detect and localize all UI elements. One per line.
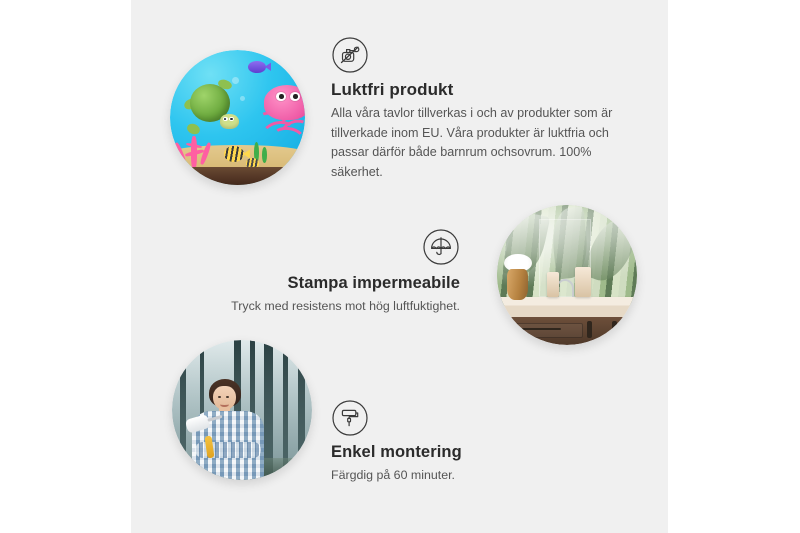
feature-title: Stampa impermeabile — [190, 274, 460, 293]
no-fragrance-icon — [331, 36, 369, 74]
feature-description: Färgdig på 60 minuter. — [331, 466, 591, 485]
promo-banner: Luktfri produkt Alla våra tavlor tillver… — [0, 0, 800, 533]
towel-stack — [547, 272, 558, 297]
feature-block-waterproof: Stampa impermeabile Tryck med resistens … — [190, 228, 460, 316]
umbrella-icon — [422, 228, 460, 266]
vase-icon — [507, 269, 528, 300]
feature-title: Enkel montering — [331, 443, 591, 462]
towel-stack — [575, 267, 590, 298]
feature-image-botanical-bathroom-mural — [497, 205, 637, 345]
feature-description: Tryck med resistens mot hög luftfuktighe… — [190, 297, 460, 316]
feature-title: Luktfri produkt — [331, 80, 631, 100]
feature-image-underwater-kids-mural — [170, 50, 305, 185]
sea-turtle-icon — [184, 82, 238, 131]
octopus-icon — [254, 85, 305, 144]
coral-icon — [173, 128, 219, 169]
feature-block-assembly: Enkel montering Färgdig på 60 minuter. — [331, 399, 591, 485]
feature-image-forest-wallpaper-installer — [172, 340, 312, 480]
feature-description: Alla våra tavlor tillverkas i och av pro… — [331, 104, 631, 182]
purple-fish-icon — [248, 61, 266, 73]
bubble-icon — [240, 96, 245, 101]
sea-floor-shadow — [170, 167, 305, 185]
installer-person — [189, 379, 267, 480]
feature-block-odourless: Luktfri produkt Alla våra tavlor tillver… — [331, 36, 631, 182]
vanity-cabinet — [497, 317, 637, 345]
paint-roller-icon — [331, 399, 369, 437]
